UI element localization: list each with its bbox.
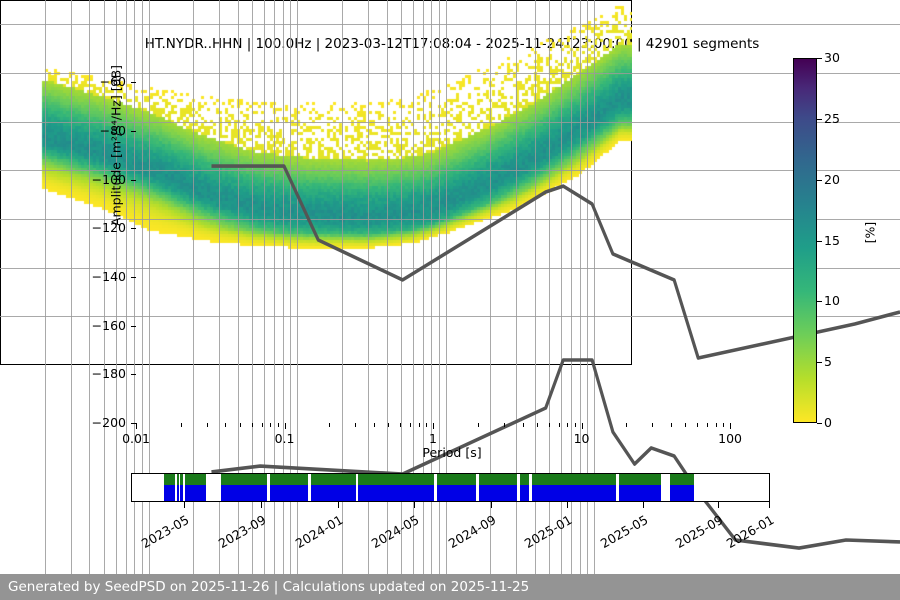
x-tick-mark-minor — [723, 423, 724, 427]
timeline-segment-green — [270, 474, 308, 485]
colorbar — [793, 58, 817, 423]
x-tick-mark-minor — [262, 423, 263, 427]
x-tick-mark-minor — [355, 423, 356, 427]
x-tick-mark-minor — [329, 423, 330, 427]
timeline-tick-mark — [769, 502, 770, 508]
timeline-segment-green — [520, 474, 530, 485]
timeline-segment-blue — [358, 485, 434, 501]
x-axis-label: Period [s] — [136, 445, 768, 460]
x-tick-mark-minor — [671, 423, 672, 427]
footer-text: Generated by SeedPSD on 2025-11-26 | Cal… — [8, 579, 529, 595]
timeline-tick-mark — [567, 502, 568, 508]
timeline-segment[interactable] — [532, 474, 616, 501]
timeline-segment-blue — [270, 485, 308, 501]
timeline-segment[interactable] — [520, 474, 530, 501]
timeline-segment[interactable] — [185, 474, 207, 501]
timeline-segment[interactable] — [180, 474, 184, 501]
y-tick-label: −200 — [64, 415, 126, 430]
x-tick-label: 0.1 — [245, 431, 325, 446]
timeline-segment-blue — [221, 485, 267, 501]
x-tick-label: 10 — [542, 431, 622, 446]
x-tick-mark-minor — [504, 423, 505, 427]
colorbar-tick-mark — [817, 301, 822, 302]
timeline-tick-mark — [718, 502, 719, 508]
colorbar-tick-mark — [817, 58, 822, 59]
y-tick-mark — [131, 180, 136, 181]
y-axis-label: Amplitude [m²/s⁴/Hz] [dB] — [109, 16, 124, 276]
timeline-segment[interactable] — [670, 474, 694, 501]
y-tick-mark — [131, 228, 136, 229]
x-tick-mark-minor — [697, 423, 698, 427]
timeline-segment-blue — [479, 485, 516, 501]
x-tick-mark-minor — [685, 423, 686, 427]
x-tick-mark-minor — [278, 423, 279, 427]
timeline-segment-blue — [185, 485, 207, 501]
timeline-segment-green — [437, 474, 477, 485]
nlnm-curve — [211, 360, 632, 365]
colorbar-tick-label: 30 — [824, 50, 840, 65]
y-tick-label: −160 — [64, 318, 126, 333]
colorbar-tick-mark — [817, 423, 822, 424]
timeline-segment[interactable] — [270, 474, 308, 501]
timeline-tick-mark — [643, 502, 644, 508]
nhnm-curve — [211, 166, 632, 358]
timeline-segment-green — [619, 474, 660, 485]
colorbar-tick-mark — [817, 362, 822, 363]
x-tick-mark-major — [136, 423, 137, 429]
x-tick-mark-major — [433, 423, 434, 429]
x-tick-mark-minor — [374, 423, 375, 427]
x-tick-mark-minor — [225, 423, 226, 427]
colorbar-tick-mark — [817, 180, 822, 181]
x-tick-mark-minor — [240, 423, 241, 427]
x-tick-mark-minor — [549, 423, 550, 427]
colorbar-tick-label: 25 — [824, 111, 840, 126]
timeline-segment-blue — [164, 485, 175, 501]
timeline-segment[interactable] — [437, 474, 477, 501]
timeline-segment-green — [670, 474, 694, 485]
timeline-segment-blue — [520, 485, 530, 501]
x-tick-mark-minor — [652, 423, 653, 427]
colorbar-tick-label: 10 — [824, 293, 840, 308]
colorbar-tick-label: 15 — [824, 233, 840, 248]
timeline-tick-mark — [338, 502, 339, 508]
x-tick-label: 100 — [690, 431, 770, 446]
y-tick-mark — [131, 326, 136, 327]
timeline-segment[interactable] — [619, 474, 660, 501]
timeline-tick-mark — [261, 502, 262, 508]
timeline-segment-green — [311, 474, 356, 485]
timeline-segment[interactable] — [177, 474, 179, 501]
x-tick-mark-minor — [575, 423, 576, 427]
x-tick-mark-minor — [181, 423, 182, 427]
y-tick-mark — [131, 82, 136, 83]
colorbar-tick-label: 0 — [824, 415, 832, 430]
x-tick-mark-minor — [400, 423, 401, 427]
timeline-segment[interactable] — [479, 474, 516, 501]
x-tick-mark-minor — [410, 423, 411, 427]
x-tick-mark-major — [730, 423, 731, 429]
timeline-tick-mark — [184, 502, 185, 508]
x-tick-mark-minor — [270, 423, 271, 427]
colorbar-tick-mark — [817, 241, 822, 242]
colorbar-tick-label: 5 — [824, 354, 832, 369]
timeline-segment-blue — [311, 485, 356, 501]
timeline-segment-blue — [177, 485, 179, 501]
timeline-segment-green — [185, 474, 207, 485]
data-availability-timeline[interactable] — [131, 473, 770, 502]
x-tick-mark-major — [285, 423, 286, 429]
y-tick-mark — [131, 277, 136, 278]
timeline-tick-mark — [414, 502, 415, 508]
x-tick-mark-minor — [252, 423, 253, 427]
x-tick-mark-minor — [207, 423, 208, 427]
x-tick-mark-minor — [567, 423, 568, 427]
timeline-segment[interactable] — [311, 474, 356, 501]
timeline-segment-blue — [437, 485, 477, 501]
x-tick-label: 0.01 — [96, 431, 176, 446]
timeline-segment-blue — [670, 485, 694, 501]
timeline-segment-blue — [180, 485, 184, 501]
timeline-tick-mark — [491, 502, 492, 508]
timeline-segment[interactable] — [164, 474, 175, 501]
x-tick-mark-minor — [523, 423, 524, 427]
colorbar-tick-label: 20 — [824, 172, 840, 187]
colorbar-label: [%] — [863, 203, 878, 263]
x-tick-mark-minor — [707, 423, 708, 427]
x-tick-mark-minor — [537, 423, 538, 427]
x-tick-mark-minor — [559, 423, 560, 427]
x-tick-mark-minor — [419, 423, 420, 427]
x-tick-mark-major — [582, 423, 583, 429]
timeline-segment-blue — [619, 485, 660, 501]
timeline-segment[interactable] — [221, 474, 267, 501]
x-tick-mark-minor — [426, 423, 427, 427]
timeline-segment-green — [479, 474, 516, 485]
timeline-segment-green — [221, 474, 267, 485]
x-tick-mark-minor — [626, 423, 627, 427]
x-tick-mark-minor — [716, 423, 717, 427]
timeline-segment-blue — [532, 485, 616, 501]
y-tick-mark — [131, 374, 136, 375]
y-tick-mark — [131, 131, 136, 132]
timeline-segment-green — [532, 474, 616, 485]
x-tick-label: 1 — [393, 431, 473, 446]
x-tick-mark-minor — [478, 423, 479, 427]
timeline-segment-green — [358, 474, 434, 485]
timeline-segment-green — [180, 474, 184, 485]
colorbar-tick-mark — [817, 119, 822, 120]
timeline-segment[interactable] — [358, 474, 434, 501]
timeline-segment-green — [164, 474, 175, 485]
psd-figure: HT.NYDR..HHN | 100.0Hz | 2023-03-12T17:0… — [0, 0, 900, 600]
timeline-segment-green — [177, 474, 179, 485]
x-tick-mark-minor — [388, 423, 389, 427]
y-tick-label: −180 — [64, 366, 126, 381]
